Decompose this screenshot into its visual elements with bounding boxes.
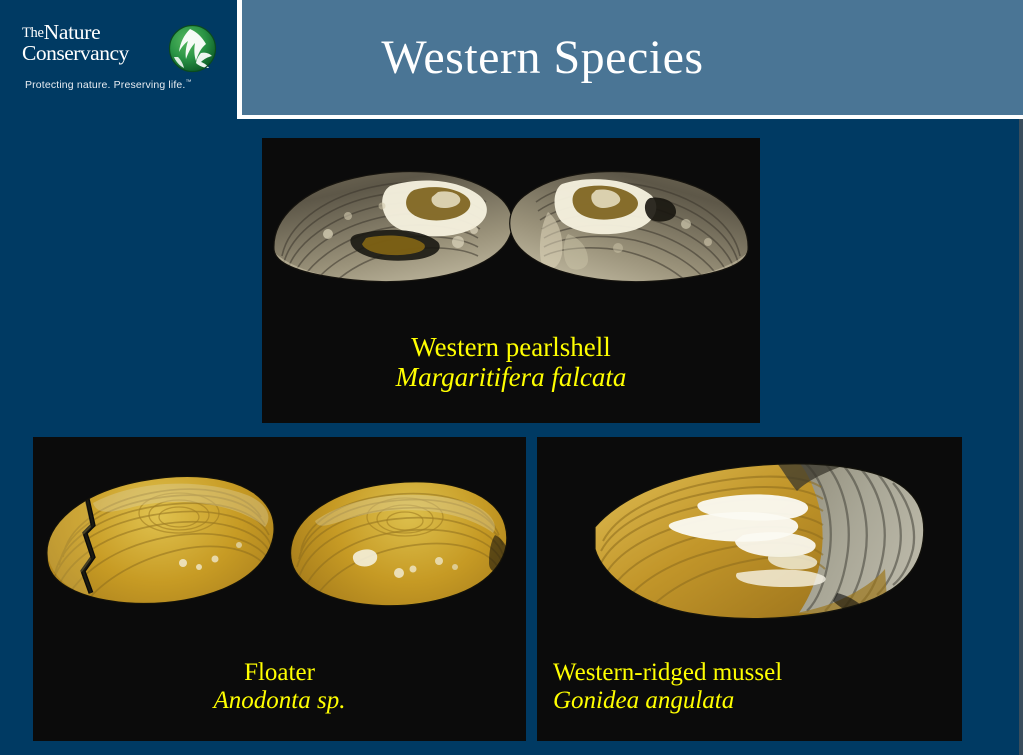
logo-tagline-text: Protecting nature. Preserving life. [25,79,186,91]
page-title: Western Species [242,0,1023,115]
photo-western-ridged-mussel [537,437,962,652]
slide-header: TheNature Conservancy [0,0,1023,119]
globe-leaf-icon [168,24,217,73]
caption-western-pearlshell: Western pearlshell Margaritifera falcata [262,332,760,392]
trademark-symbol: ™ [186,80,192,86]
organization-logo: TheNature Conservancy [0,0,237,119]
logo-the: The [22,25,44,41]
common-name: Western-ridged mussel [553,659,962,687]
header-underline [242,115,1023,119]
slide-right-edge [1019,119,1023,755]
scientific-name: Margaritifera falcata [262,362,760,392]
photo-western-pearlshell [262,138,760,328]
logo-wordmark: TheNature Conservancy [22,22,162,64]
common-name: Floater [33,659,526,687]
common-name: Western pearlshell [262,332,760,362]
title-banner: Western Species [242,0,1023,115]
scientific-name: Anodonta sp. [33,687,526,715]
photo-floater [33,437,526,652]
caption-western-ridged-mussel: Western-ridged mussel Gonidea angulata [537,659,962,715]
logo-conservancy: Conservancy [22,43,162,64]
species-panel-western-pearlshell: Western pearlshell Margaritifera falcata [262,138,760,423]
species-panel-floater: Floater Anodonta sp. [33,437,526,741]
caption-floater: Floater Anodonta sp. [33,659,526,715]
species-panel-western-ridged-mussel: Western-ridged mussel Gonidea angulata [537,437,962,741]
presentation-slide: TheNature Conservancy [0,0,1023,755]
logo-tagline: Protecting nature. Preserving life.™ [25,79,192,91]
scientific-name: Gonidea angulata [553,687,962,715]
